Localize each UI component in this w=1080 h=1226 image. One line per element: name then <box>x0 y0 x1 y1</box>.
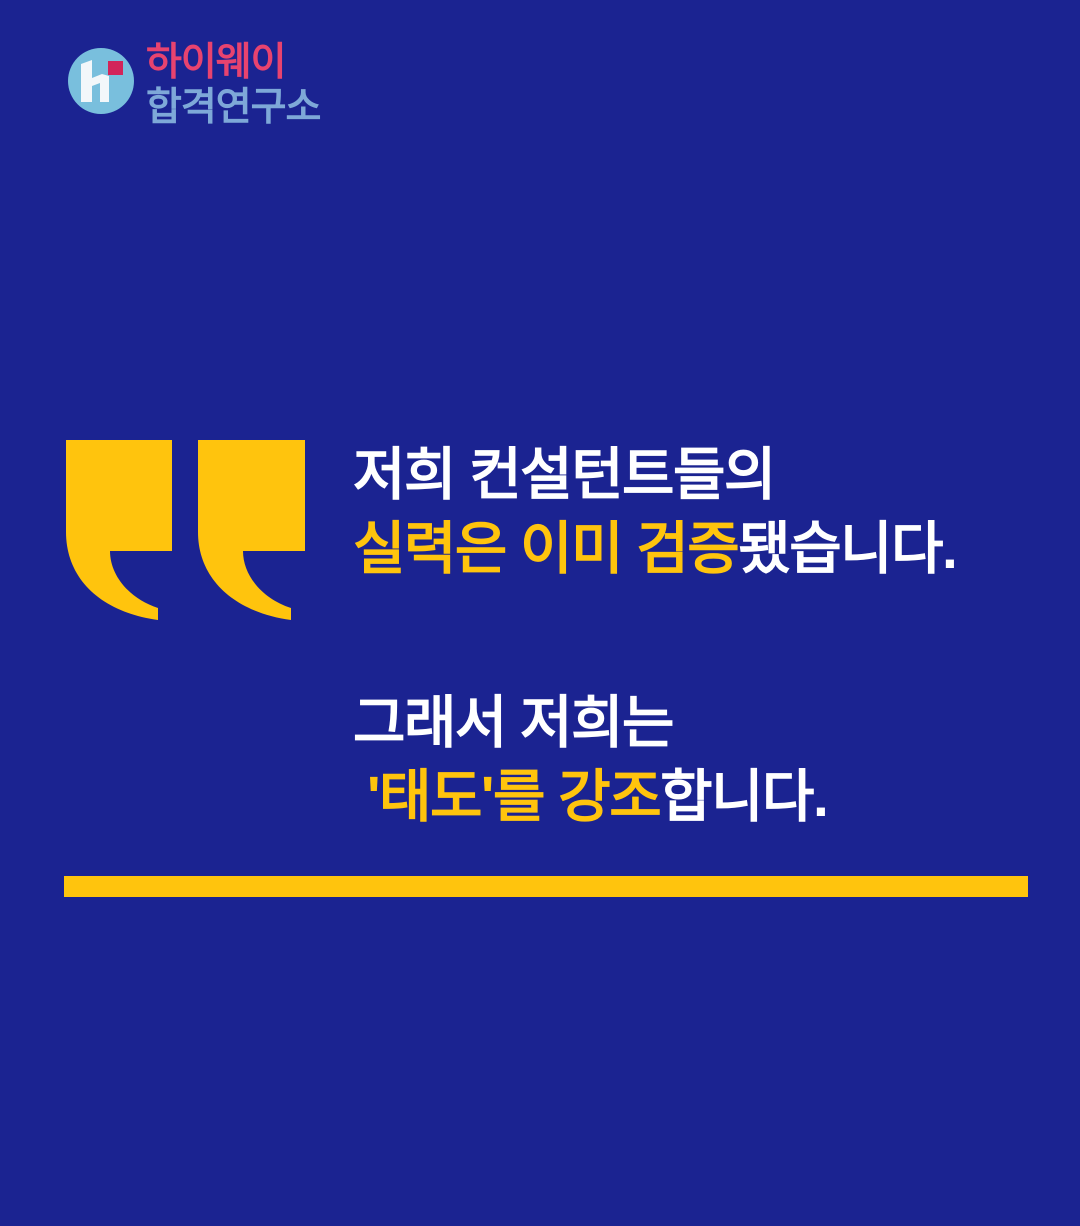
quote-line-2-rest: 됐습니다. <box>738 517 956 581</box>
highway-h-badge-icon <box>68 48 134 114</box>
brand-name-line-1: 하이웨이 <box>146 40 476 85</box>
brand-logo: 하이웨이 합격연구소 <box>64 40 484 140</box>
quote-line-1: 저희 컨설턴트들의 <box>353 438 1053 512</box>
quote-line-2: 실력은 이미 검증됐습니다. <box>353 512 1053 586</box>
quote-line-3: 그래서 저희는 <box>353 686 1053 760</box>
brand-wordmark: 하이웨이 합격연구소 <box>146 40 476 130</box>
yellow-divider-rule <box>64 876 1028 897</box>
quote-line-4-highlight: '태도'를 강조 <box>367 765 660 829</box>
double-quote-open-icon <box>62 436 322 626</box>
quote-line-4-rest: 합니다. <box>660 765 827 829</box>
quote-paragraph-2: 그래서 저희는 '태도'를 강조합니다. <box>353 686 1053 834</box>
quote-line-4: '태도'를 강조합니다. <box>353 760 1053 834</box>
quote-line-2-highlight: 실력은 이미 검증 <box>353 517 738 581</box>
brand-name-line-2: 합격연구소 <box>146 85 476 130</box>
promo-card: 하이웨이 합격연구소 저희 컨설턴트들의 실력은 이미 검증됐습니다. 그래서 … <box>0 0 1080 1226</box>
quote-paragraph-1: 저희 컨설턴트들의 실력은 이미 검증됐습니다. <box>353 438 1053 586</box>
